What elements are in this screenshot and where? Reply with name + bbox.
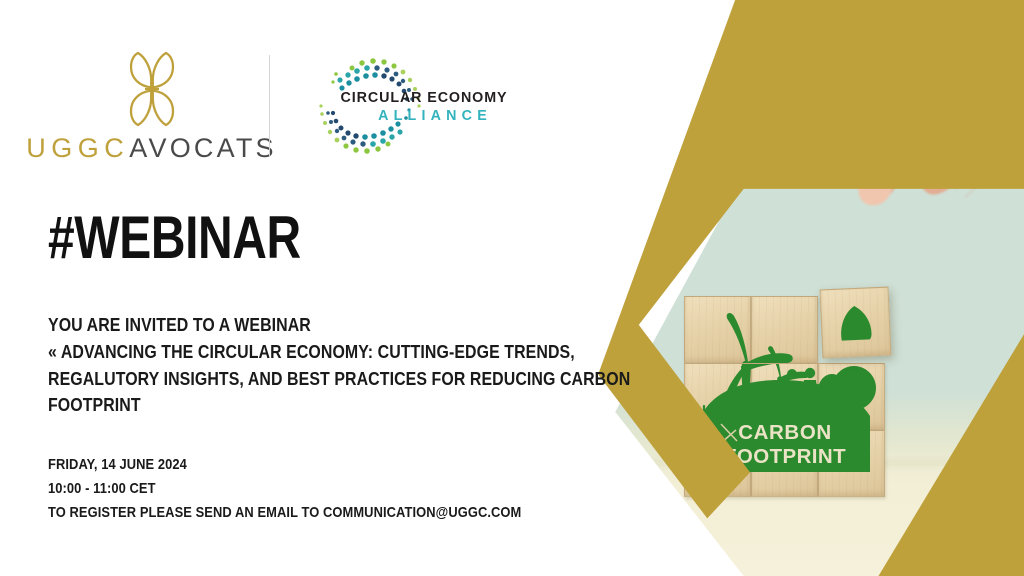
- block: [751, 296, 818, 363]
- invitation-text: YOU ARE INVITED TO A WEBINAR « ADVANCING…: [48, 312, 608, 419]
- block: [818, 430, 885, 497]
- block: [818, 363, 885, 430]
- invitation-line: YOU ARE INVITED TO A WEBINAR: [48, 312, 530, 339]
- uggc-butterfly-mark: [126, 50, 178, 128]
- logo-row: UGGCAVOCATS: [49, 46, 518, 166]
- block: [751, 363, 818, 430]
- right-graphic-panel: CARBON FOOTPRINT: [596, 0, 1024, 576]
- circular-economy-alliance-logo: CIRCULAR ECONOMY ALLIANCE: [318, 52, 518, 160]
- block: [684, 296, 751, 363]
- uggc-wordmark: UGGCAVOCATS: [26, 135, 276, 162]
- registration-instructions: TO REGISTER PLEASE SEND AN EMAIL TO COMM…: [48, 501, 530, 525]
- invitation-line: FOOTPRINT: [48, 392, 530, 419]
- invitation-line: REGALUTORY INSIGHTS, AND BEST PRACTICES …: [48, 366, 530, 393]
- page-title: #WEBINAR: [48, 208, 301, 268]
- webinar-slide: CARBON FOOTPRINT: [0, 0, 1024, 576]
- uggc-word-secondary: AVOCATS: [129, 133, 276, 163]
- event-details: FRIDAY, 14 JUNE 2024 10:00 - 11:00 CET T…: [48, 453, 608, 525]
- cea-line2: ALLIANCE: [331, 107, 517, 126]
- uggc-word-primary: UGGC: [26, 133, 129, 163]
- invitation-line: « ADVANCING THE CIRCULAR ECONOMY: CUTTIN…: [48, 339, 530, 366]
- uggc-logo: UGGCAVOCATS: [49, 50, 254, 162]
- event-time: 10:00 - 11:00 CET: [48, 477, 530, 501]
- block-lifted: [820, 287, 892, 359]
- event-date: FRIDAY, 14 JUNE 2024: [48, 453, 530, 477]
- cea-line1: CIRCULAR ECONOMY: [331, 90, 517, 107]
- cea-wordmark: CIRCULAR ECONOMY ALLIANCE: [331, 90, 517, 126]
- logo-divider: [269, 55, 270, 157]
- block: [751, 430, 818, 497]
